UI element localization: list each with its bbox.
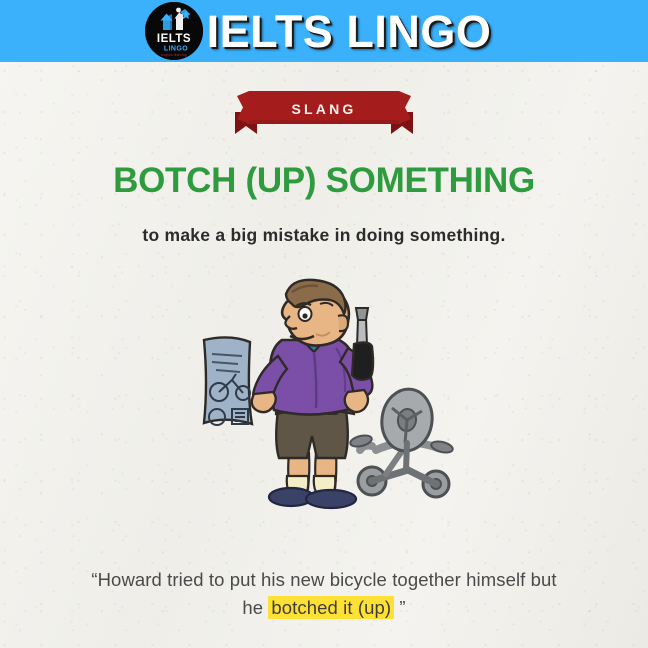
slang-ribbon-banner: SLANG: [231, 88, 417, 136]
cartoon-man-graphic: [204, 280, 373, 508]
brand-title: IELTS LINGO: [207, 9, 492, 54]
ielts-lingo-logo-icon: IELTS LINGO english learning: [145, 2, 203, 60]
svg-text:IELTS: IELTS: [157, 33, 191, 45]
quote-close-mark: ”: [394, 597, 406, 618]
ribbon-label: SLANG: [231, 88, 417, 130]
svg-text:english learning: english learning: [161, 53, 187, 57]
svg-text:LINGO: LINGO: [164, 46, 188, 53]
quote-line-1: Howard tried to put his new bicycle toge…: [98, 569, 557, 590]
definition-text: to make a big mistake in doing something…: [0, 225, 648, 246]
quote-line-2-prefix: he: [242, 597, 268, 618]
page-title-term: BOTCH (UP) SOMETHING: [0, 163, 648, 200]
header-bar: IELTS LINGO english learning IELTS LINGO: [0, 0, 648, 62]
example-sentence: “Howard tried to put his new bicycle tog…: [14, 566, 634, 622]
brand-lockup: IELTS LINGO english learning IELTS LINGO: [145, 2, 492, 60]
illustration-cartoon: [186, 278, 476, 513]
infographic-card: IELTS LINGO english learning IELTS LINGO…: [0, 0, 648, 648]
highlighted-phrase: botched it (up): [268, 596, 394, 619]
